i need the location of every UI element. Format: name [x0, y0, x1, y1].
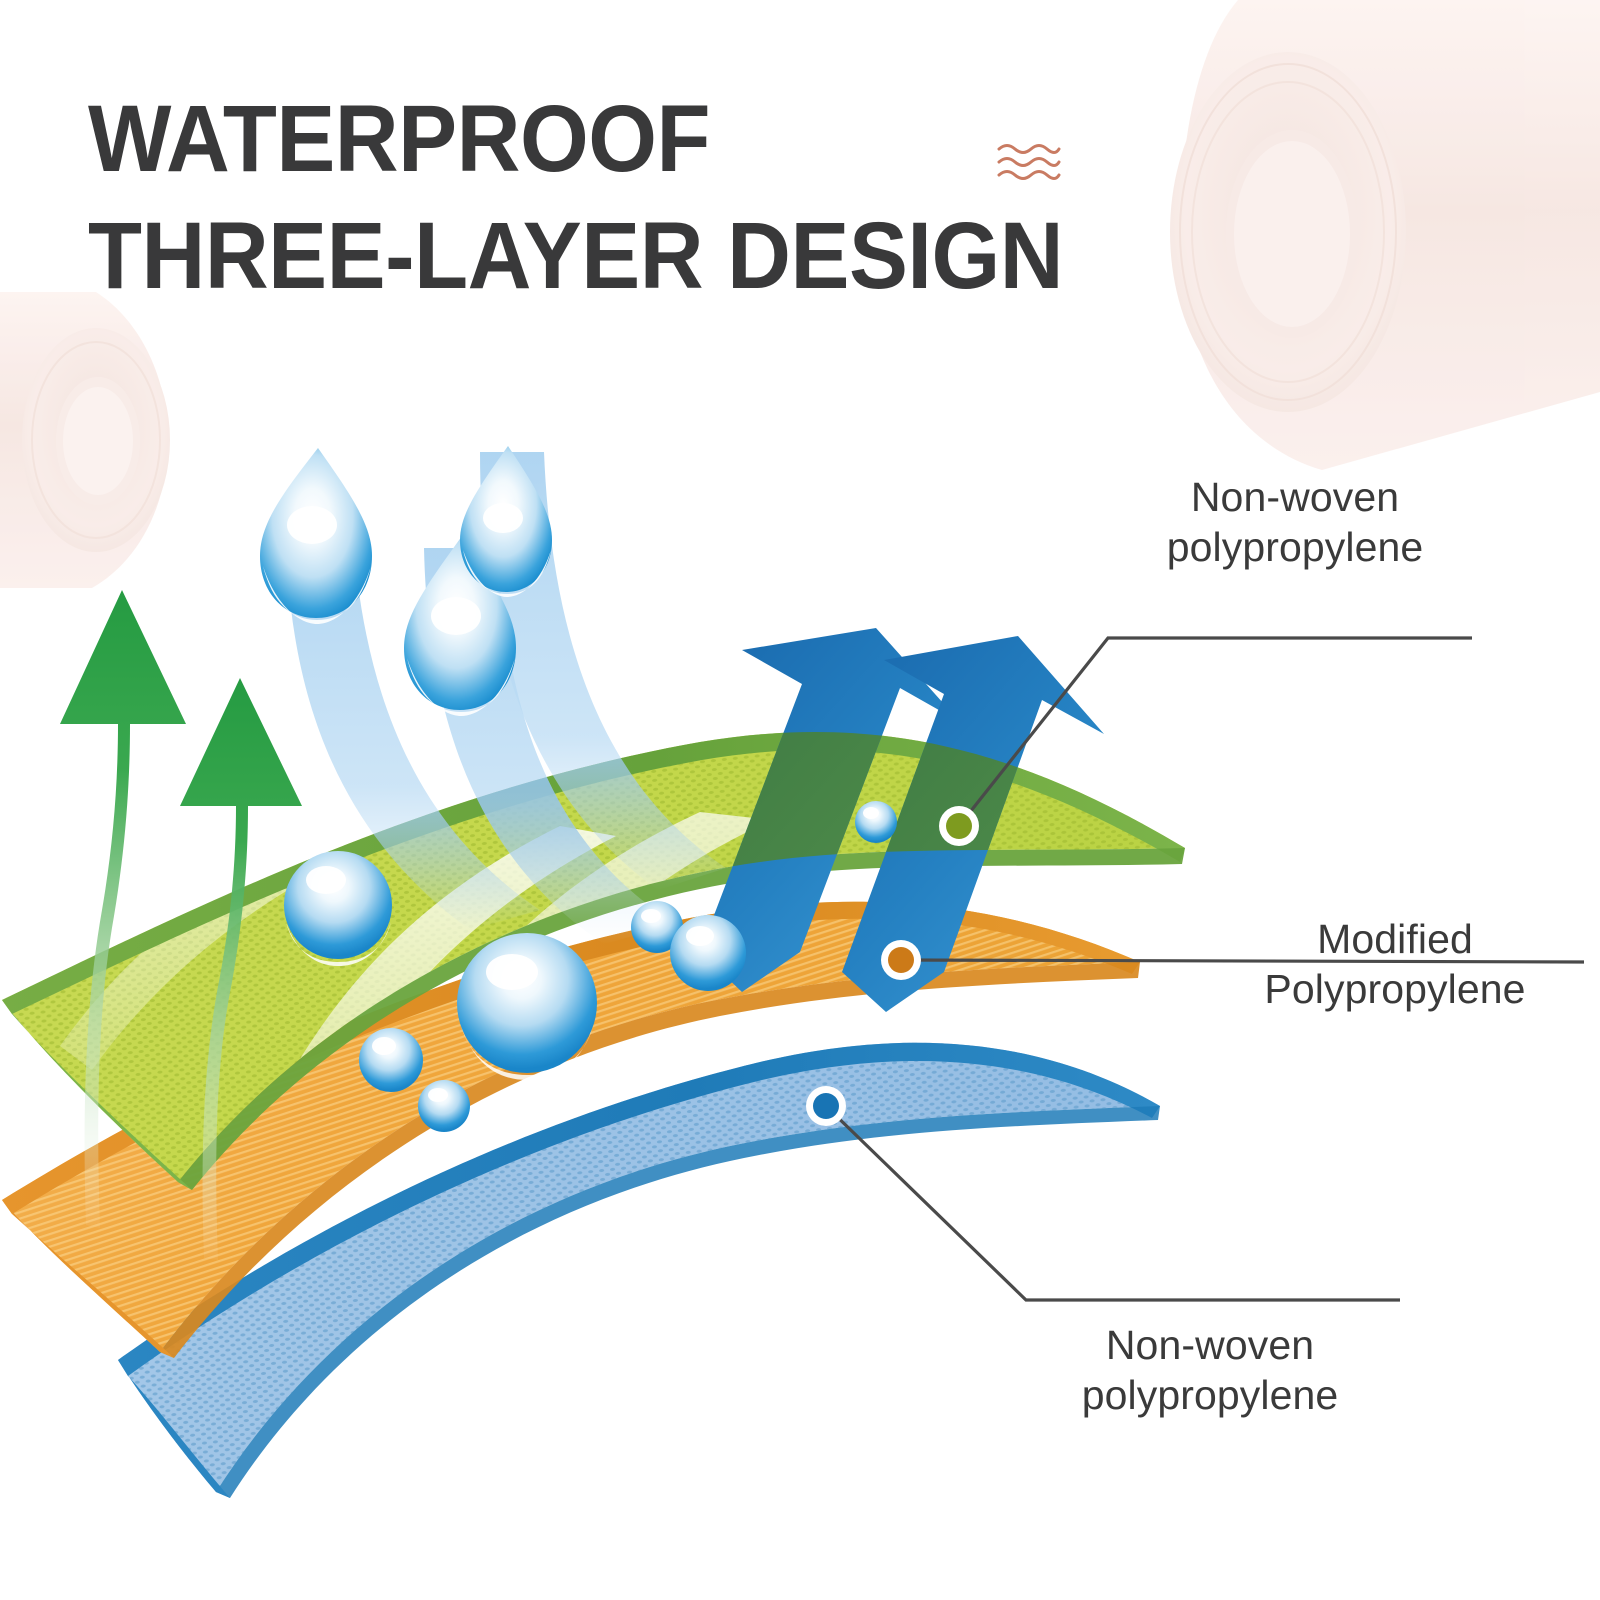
callout-bottom-line-2: polypropylene — [1040, 1370, 1380, 1420]
callout-marker-green[interactable] — [939, 806, 979, 846]
callout-middle-line-2: Polypropylene — [1215, 964, 1575, 1014]
leader-line-bottom — [826, 1106, 1400, 1300]
water-waves-icon — [996, 140, 1062, 184]
callout-label-top: Non-woven polypropylene — [1125, 472, 1465, 572]
callout-label-bottom: Non-woven polypropylene — [1040, 1320, 1380, 1420]
surface-water-bead — [359, 1028, 423, 1092]
water-droplet — [260, 448, 372, 624]
callout-middle-line-1: Modified — [1215, 914, 1575, 964]
surface-water-bead — [670, 915, 746, 991]
fabric-roll-top-right-watermark — [1170, 0, 1600, 470]
fabric-roll-left-edge-watermark — [0, 292, 170, 588]
callout-top-line-1: Non-woven — [1125, 472, 1465, 522]
callout-label-middle: Modified Polypropylene — [1215, 914, 1575, 1014]
callout-bottom-line-1: Non-woven — [1040, 1320, 1380, 1370]
surface-water-bead — [855, 801, 897, 843]
infographic-canvas: WATERPROOF THREE-LAYER DESIGN Non-woven … — [0, 0, 1600, 1600]
callout-top-line-2: polypropylene — [1125, 522, 1465, 572]
surface-water-bead — [418, 1080, 470, 1132]
callout-marker-orange[interactable] — [881, 940, 921, 980]
callout-marker-blue[interactable] — [806, 1086, 846, 1126]
